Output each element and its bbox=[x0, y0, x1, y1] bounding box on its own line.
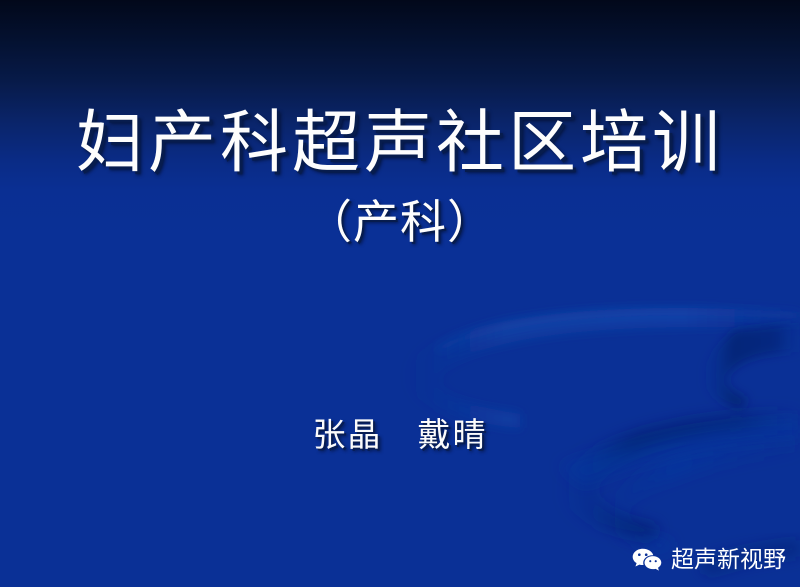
page-title: 妇产科超声社区培训 bbox=[0, 104, 800, 184]
page-subtitle: （产科） bbox=[0, 192, 800, 252]
wechat-icon bbox=[632, 547, 662, 573]
author-names: 张晶 戴晴 bbox=[0, 413, 800, 457]
author-block: 张晶 戴晴 bbox=[0, 413, 800, 457]
watermark-label: 超声新视野 bbox=[671, 547, 786, 573]
watermark: 超声新视野 bbox=[632, 547, 786, 573]
title-block: 妇产科超声社区培训 （产科） bbox=[0, 104, 800, 252]
presentation-title-slide: 妇产科超声社区培训 （产科） 张晶 戴晴 超声新视野 bbox=[0, 0, 800, 587]
decorative-swoosh-ribbon bbox=[0, 0, 800, 587]
